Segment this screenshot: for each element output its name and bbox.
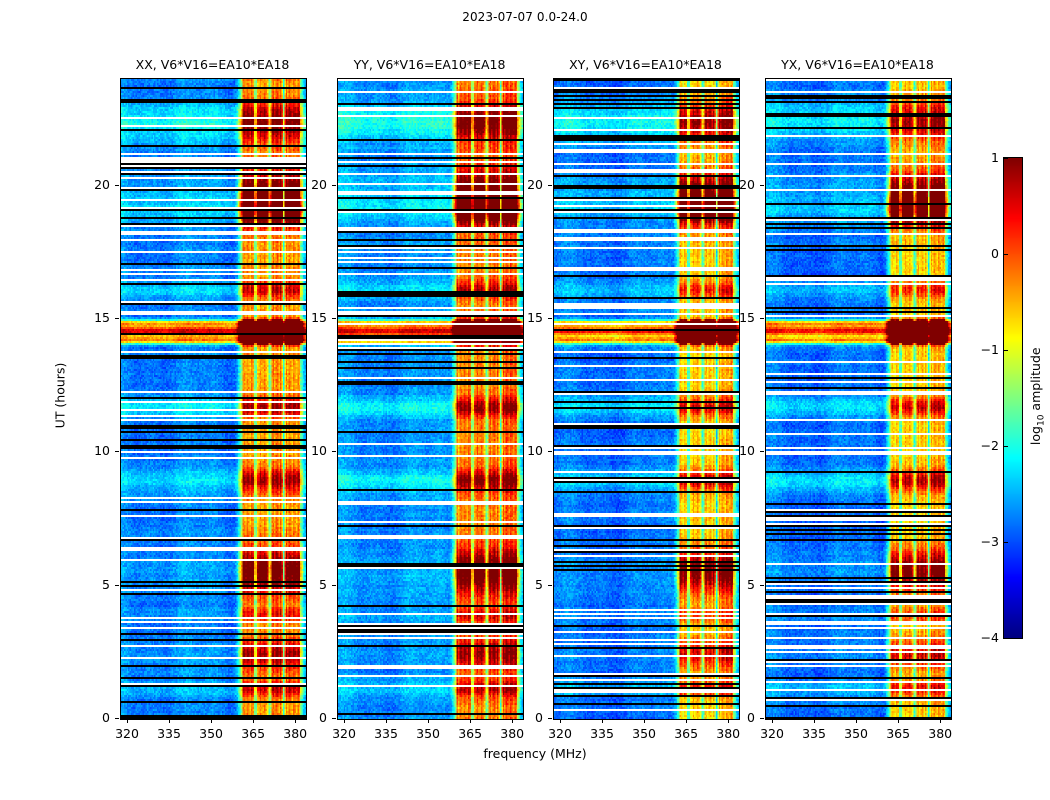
y-tickmark (548, 451, 552, 452)
x-tick-label: 335 (149, 726, 189, 741)
y-tick-label: 15 (513, 310, 543, 325)
x-tick-label: 350 (624, 726, 664, 741)
figure-suptitle: 2023-07-07 0.0-24.0 (0, 10, 1050, 24)
waterfall-image-xx (121, 79, 306, 719)
y-tick-label: 15 (725, 310, 755, 325)
y-tickmark (332, 185, 336, 186)
y-tickmark (115, 318, 119, 319)
waterfall-image-yx (766, 79, 951, 719)
y-tickmark (115, 718, 119, 719)
x-tickmark (295, 719, 296, 723)
colorbar-tick-label: −4 (971, 630, 999, 645)
colorbar-tick-label: −1 (971, 342, 999, 357)
y-tickmark (548, 718, 552, 719)
colorbar-tick-label: −3 (971, 534, 999, 549)
y-tickmark (548, 185, 552, 186)
colorbar-tick-label: −2 (971, 438, 999, 453)
y-tick-label: 0 (513, 710, 543, 725)
y-tick-label: 20 (725, 177, 755, 192)
panel-yx[interactable] (765, 78, 952, 720)
colorbar (1003, 157, 1023, 639)
x-tick-label: 380 (275, 726, 315, 741)
x-tick-label: 335 (794, 726, 834, 741)
x-tick-label: 350 (836, 726, 876, 741)
x-tickmark (772, 719, 773, 723)
x-tick-label: 365 (233, 726, 273, 741)
x-tick-label: 320 (540, 726, 580, 741)
x-tickmark (470, 719, 471, 723)
colorbar-label: log10 amplitude (1028, 326, 1047, 466)
y-tick-label: 0 (297, 710, 327, 725)
x-tick-label: 350 (408, 726, 448, 741)
y-tickmark (760, 718, 764, 719)
x-tick-label: 380 (920, 726, 960, 741)
x-tickmark (940, 719, 941, 723)
panel-title-yx: YX, V6*V16=EA10*EA18 (728, 57, 988, 72)
x-tickmark (428, 719, 429, 723)
y-tickmark (332, 451, 336, 452)
y-tickmark (332, 318, 336, 319)
x-tickmark (127, 719, 128, 723)
colorbar-tickmark (1004, 254, 1008, 255)
x-tickmark (560, 719, 561, 723)
x-tick-label: 320 (324, 726, 364, 741)
x-tickmark (898, 719, 899, 723)
colorbar-tickmark (1004, 158, 1008, 159)
y-tick-label: 10 (725, 443, 755, 458)
waterfall-image-xy (554, 79, 739, 719)
y-tickmark (760, 585, 764, 586)
y-tick-label: 10 (297, 443, 327, 458)
y-tickmark (548, 585, 552, 586)
figure-canvas-area: 2023-07-07 0.0-24.0 frequency (MHz) UT (… (0, 0, 1050, 800)
y-tick-label: 20 (297, 177, 327, 192)
panel-yy[interactable] (337, 78, 524, 720)
x-tick-label: 380 (492, 726, 532, 741)
x-tickmark (344, 719, 345, 723)
x-tickmark (602, 719, 603, 723)
y-tickmark (332, 718, 336, 719)
colorbar-tick-label: 1 (971, 150, 999, 165)
x-tickmark (386, 719, 387, 723)
colorbar-tickmark (1004, 446, 1008, 447)
x-tick-label: 335 (582, 726, 622, 741)
y-tickmark (760, 185, 764, 186)
x-tick-label: 320 (752, 726, 792, 741)
y-tickmark (548, 318, 552, 319)
x-axis-label: frequency (MHz) (415, 746, 655, 761)
y-tickmark (760, 451, 764, 452)
x-tick-label: 365 (450, 726, 490, 741)
y-tick-label: 5 (297, 577, 327, 592)
x-tick-label: 365 (666, 726, 706, 741)
x-tick-label: 365 (878, 726, 918, 741)
waterfall-image-yy (338, 79, 523, 719)
colorbar-tickmark (1004, 542, 1008, 543)
x-tickmark (686, 719, 687, 723)
y-tickmark (115, 585, 119, 586)
x-tick-label: 380 (708, 726, 748, 741)
colorbar-tickmark (1004, 638, 1008, 639)
x-tick-label: 335 (366, 726, 406, 741)
x-tickmark (814, 719, 815, 723)
y-tick-label: 5 (513, 577, 543, 592)
x-tick-label: 320 (107, 726, 147, 741)
y-tickmark (115, 451, 119, 452)
x-tickmark (253, 719, 254, 723)
x-tickmark (856, 719, 857, 723)
x-tickmark (211, 719, 212, 723)
y-tick-label: 10 (80, 443, 110, 458)
y-tickmark (332, 585, 336, 586)
y-tickmark (115, 185, 119, 186)
x-tick-label: 350 (191, 726, 231, 741)
panel-xx[interactable] (120, 78, 307, 720)
y-tick-label: 5 (80, 577, 110, 592)
x-tickmark (169, 719, 170, 723)
y-tick-label: 5 (725, 577, 755, 592)
y-tick-label: 15 (297, 310, 327, 325)
colorbar-tickmark (1004, 350, 1008, 351)
panel-xy[interactable] (553, 78, 740, 720)
y-tick-label: 20 (80, 177, 110, 192)
y-tick-label: 15 (80, 310, 110, 325)
y-axis-label: UT (hours) (53, 316, 68, 476)
y-tick-label: 10 (513, 443, 543, 458)
y-tick-label: 20 (513, 177, 543, 192)
y-tick-label: 0 (725, 710, 755, 725)
colorbar-gradient (1003, 157, 1023, 639)
y-tick-label: 0 (80, 710, 110, 725)
y-tickmark (760, 318, 764, 319)
x-tickmark (644, 719, 645, 723)
colorbar-tick-label: 0 (971, 246, 999, 261)
